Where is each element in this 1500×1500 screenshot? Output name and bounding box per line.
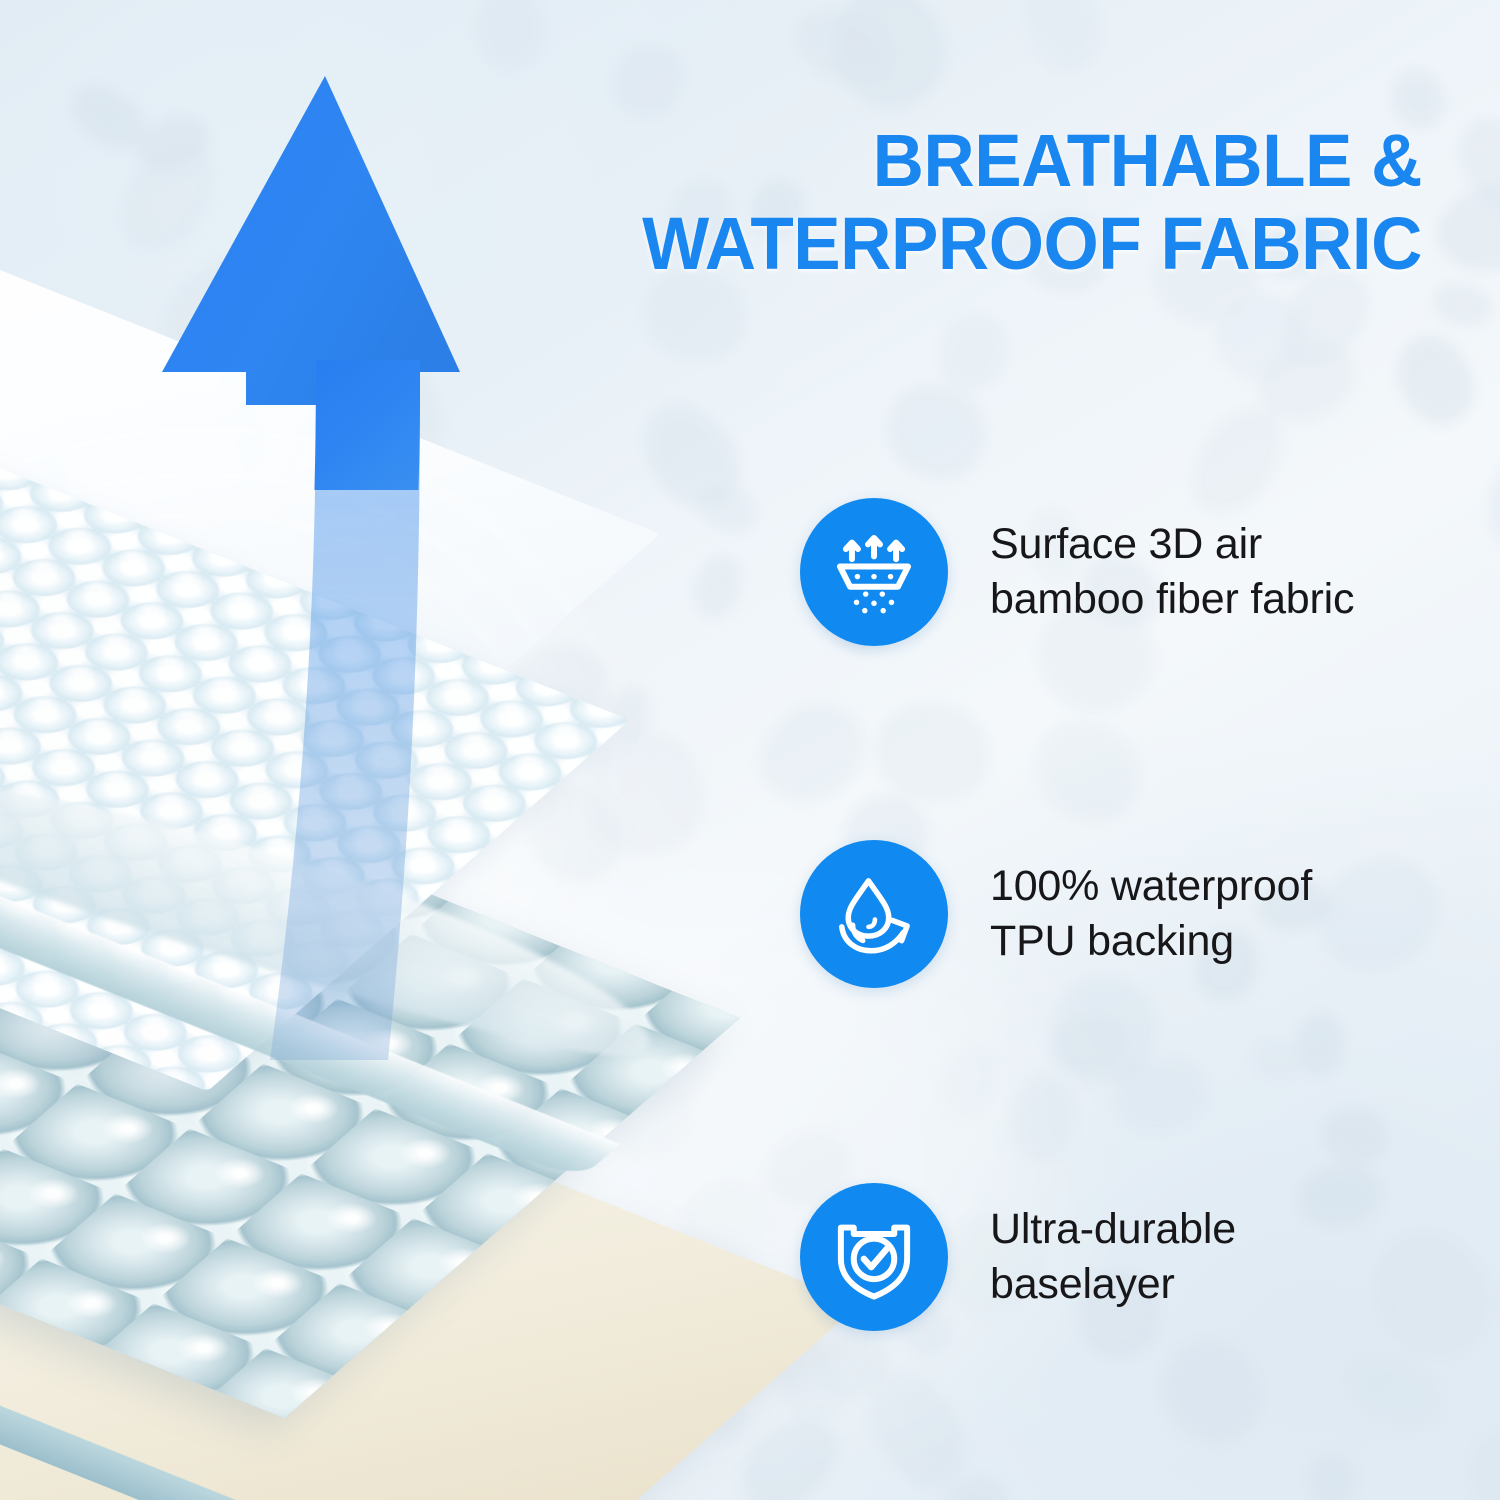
background-pebble bbox=[1444, 104, 1500, 224]
background-pebble bbox=[1470, 1432, 1500, 1500]
background-pebble bbox=[1245, 328, 1369, 438]
background-pebble bbox=[599, 32, 697, 132]
background-pebble bbox=[1297, 1013, 1344, 1077]
feature-item-breathable: Surface 3D air bamboo fiber fabric bbox=[800, 498, 1480, 646]
arrowhead bbox=[162, 76, 460, 405]
background-pebble bbox=[1201, 279, 1320, 397]
background-pebble bbox=[1018, 704, 1159, 839]
background-pebble bbox=[1308, 1455, 1354, 1500]
background-pebble bbox=[1428, 278, 1496, 333]
feature-item-waterproof: 100% waterproof TPU backing bbox=[800, 840, 1480, 988]
waterproof-droplet-icon bbox=[800, 840, 948, 988]
feature-1-line-1: Surface 3D air bbox=[990, 517, 1354, 572]
feature-3-line-1: Ultra-durable bbox=[990, 1202, 1236, 1257]
shield-check-glyph bbox=[828, 1211, 920, 1303]
upward-airflow-arrow bbox=[120, 60, 480, 1060]
background-pebble bbox=[1014, 0, 1111, 80]
headline-line-2: WATERPROOF FABRIC bbox=[635, 203, 1422, 286]
background-pebble bbox=[784, 0, 904, 97]
background-pebble bbox=[1046, 1008, 1134, 1080]
background-pebble bbox=[929, 304, 1019, 401]
feature-1-line-2: bamboo fiber fabric bbox=[990, 572, 1354, 627]
page-title: BREATHABLE & WATERPROOF FABRIC bbox=[635, 120, 1422, 286]
background-pebble bbox=[472, 0, 548, 73]
infographic-canvas: BREATHABLE & WATERPROOF FABRIC bbox=[0, 0, 1500, 1500]
background-pebble bbox=[1007, 1072, 1079, 1165]
shield-check-icon bbox=[800, 1183, 948, 1331]
droplet-repel-glyph bbox=[828, 868, 920, 960]
background-pebble bbox=[1319, 1106, 1390, 1167]
background-pebble bbox=[1337, 1346, 1450, 1439]
background-pebble bbox=[1250, 1035, 1307, 1083]
feature-label-durable: Ultra-durable baselayer bbox=[990, 1202, 1236, 1312]
headline-line-1: BREATHABLE & bbox=[873, 119, 1422, 202]
background-pebble bbox=[923, 1464, 1022, 1500]
feature-label-waterproof: 100% waterproof TPU backing bbox=[990, 859, 1312, 969]
airflow-arrow-head bbox=[120, 60, 480, 1060]
background-pebble bbox=[1383, 323, 1487, 437]
feature-2-line-1: 100% waterproof bbox=[990, 859, 1312, 914]
feature-item-durable: Ultra-durable baselayer bbox=[800, 1183, 1480, 1331]
feature-label-breathable: Surface 3D air bamboo fiber fabric bbox=[990, 517, 1354, 627]
breathable-airflow-icon bbox=[800, 498, 948, 646]
feature-2-line-2: TPU backing bbox=[990, 914, 1312, 969]
background-pebble bbox=[1144, 1322, 1279, 1461]
background-pebble bbox=[812, 0, 966, 127]
background-pebble bbox=[1428, 170, 1500, 283]
background-pebble bbox=[931, 1039, 1003, 1127]
feature-3-line-2: baselayer bbox=[990, 1257, 1236, 1312]
airflow-basket-glyph bbox=[828, 526, 920, 618]
background-pebble bbox=[1106, 1050, 1213, 1138]
